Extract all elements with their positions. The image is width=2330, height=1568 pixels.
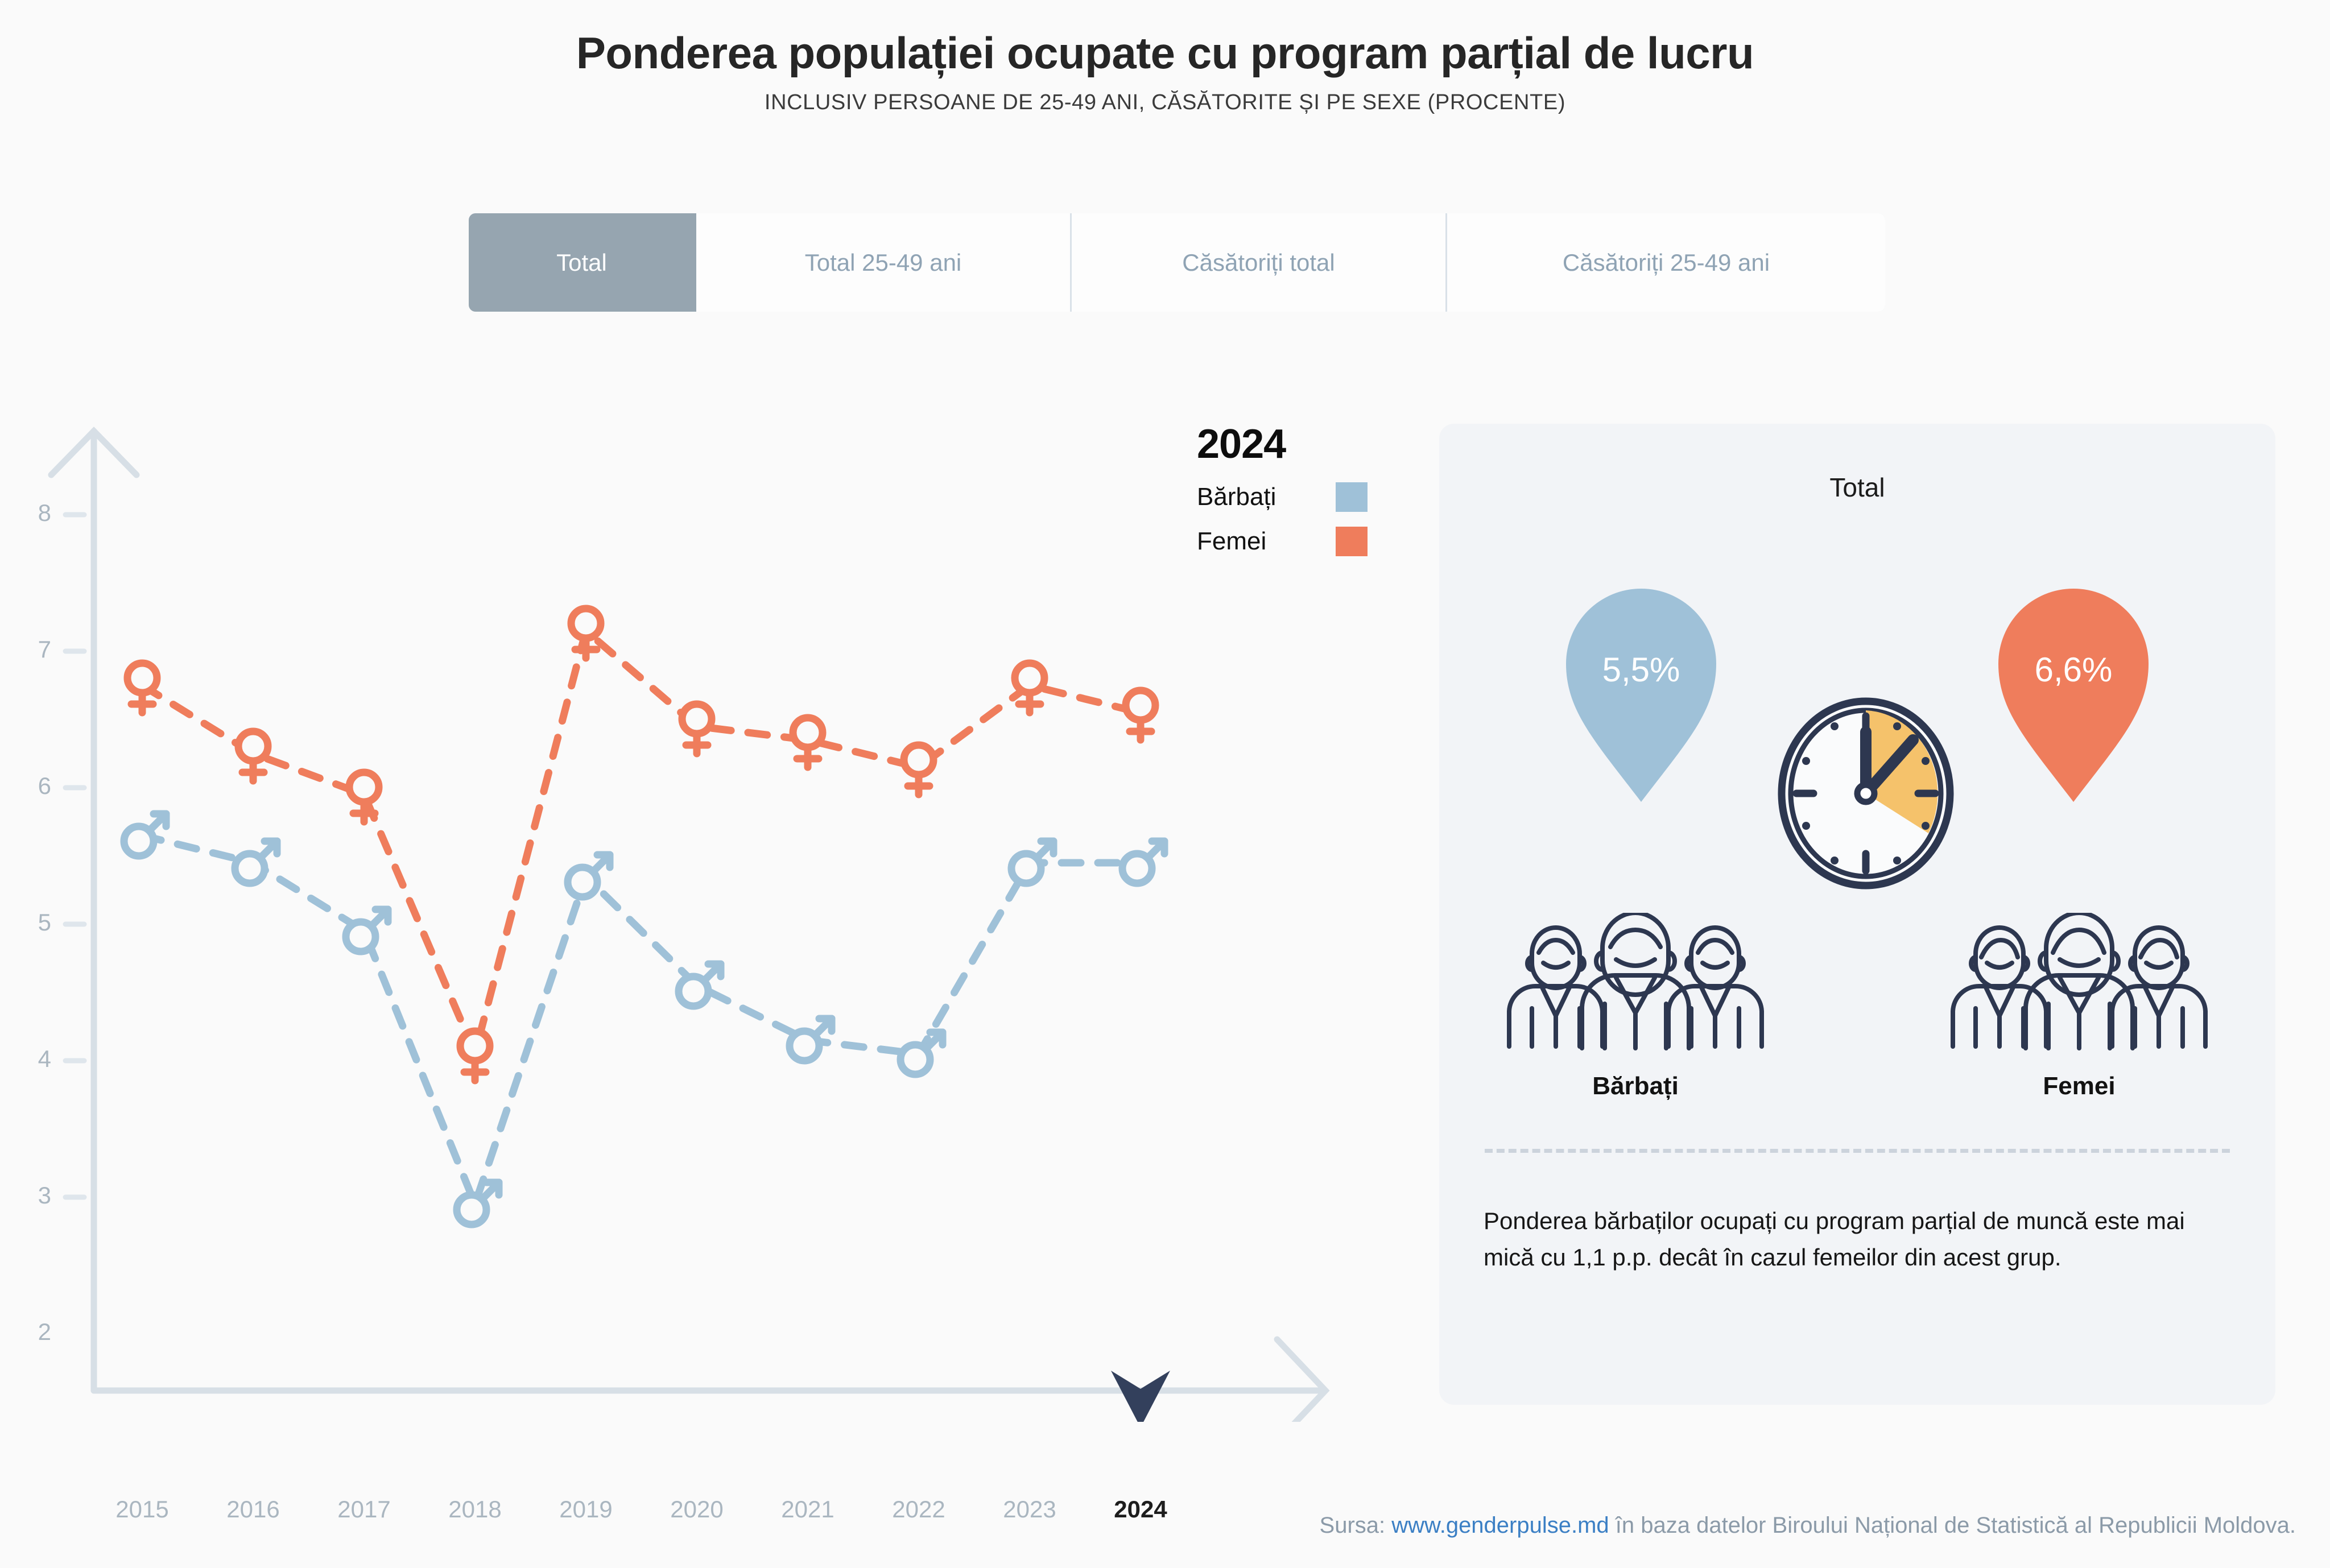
source-link[interactable]: www.genderpulse.md (1391, 1513, 1609, 1538)
women-value-text: 6,6% (1994, 650, 2153, 689)
map-pin-icon (1561, 577, 1721, 805)
y-tick-label-4: 4 (11, 1045, 51, 1073)
women-group-label: Femei (1943, 1072, 2216, 1101)
men-value-pin: 5,5% (1561, 577, 1721, 805)
tab-bar: Total Total 25-49 ani Căsătoriți total C… (469, 213, 1885, 312)
y-tick-label-6: 6 (11, 772, 51, 800)
legend-label-femei: Femei (1197, 527, 1266, 556)
y-axis (51, 431, 137, 1391)
clock-icon (1778, 697, 1954, 890)
legend-swatch-femei (1336, 527, 1368, 556)
women-group-icon (1943, 913, 2216, 1052)
source-suffix: în baza datelor Biroului Național de Sta… (1609, 1513, 2296, 1538)
legend-year: 2024 (1197, 421, 1402, 467)
tab-casatoriti-total[interactable]: Căsătoriți total (1072, 213, 1447, 312)
legend-swatch-barbati (1336, 482, 1368, 512)
selected-year-marker[interactable] (1111, 1371, 1170, 1422)
y-tick-label-5: 5 (11, 909, 51, 936)
chart-legend: 2024 Bărbați Femei (1197, 421, 1402, 556)
source-prefix: Sursa: (1320, 1513, 1392, 1538)
men-group-icon (1499, 913, 1772, 1052)
panel-title: Total (1439, 472, 2275, 503)
page-subtitle: INCLUSIV PERSOANE DE 25-49 ANI, CĂSĂTORI… (0, 90, 2330, 115)
panel-divider (1485, 1149, 2230, 1153)
y-tick-label-2: 2 (11, 1318, 51, 1346)
women-value-pin: 6,6% (1994, 577, 2153, 805)
men-group-label: Bărbați (1499, 1072, 1772, 1101)
barbati-markers (124, 814, 1164, 1224)
y-tick-label-8: 8 (11, 499, 51, 527)
legend-item-femei[interactable]: Femei (1197, 527, 1368, 556)
source-footer: Sursa: www.genderpulse.md în baza datelo… (0, 1513, 2330, 1538)
legend-label-barbati: Bărbați (1197, 483, 1276, 511)
series-barbati-line (142, 835, 1141, 1204)
tab-casatoriti-25-49[interactable]: Căsătoriți 25-49 ani (1447, 213, 1885, 312)
men-value-text: 5,5% (1561, 650, 1721, 689)
infographic-page: Ponderea populației ocupate cu program p… (0, 0, 2330, 1568)
legend-item-barbati[interactable]: Bărbați (1197, 482, 1368, 512)
panel-description: Ponderea bărbaților ocupați cu program p… (1484, 1203, 2234, 1276)
line-chart: 8 7 6 5 4 3 2 2015 2016 2017 2018 2019 2… (0, 398, 1365, 1422)
map-pin-icon (1994, 577, 2153, 805)
chart-canvas (0, 398, 1365, 1422)
y-ticks (65, 515, 84, 1197)
y-tick-label-3: 3 (11, 1182, 51, 1209)
summary-panel: Total 5,5% 6,6% (1439, 424, 2275, 1405)
tab-total-25-49[interactable]: Total 25-49 ani (696, 213, 1072, 312)
tab-total[interactable]: Total (469, 213, 696, 312)
series-femei-line (142, 631, 1141, 1053)
y-tick-label-7: 7 (11, 636, 51, 663)
page-header: Ponderea populației ocupate cu program p… (0, 28, 2330, 115)
page-title: Ponderea populației ocupate cu program p… (0, 28, 2330, 78)
